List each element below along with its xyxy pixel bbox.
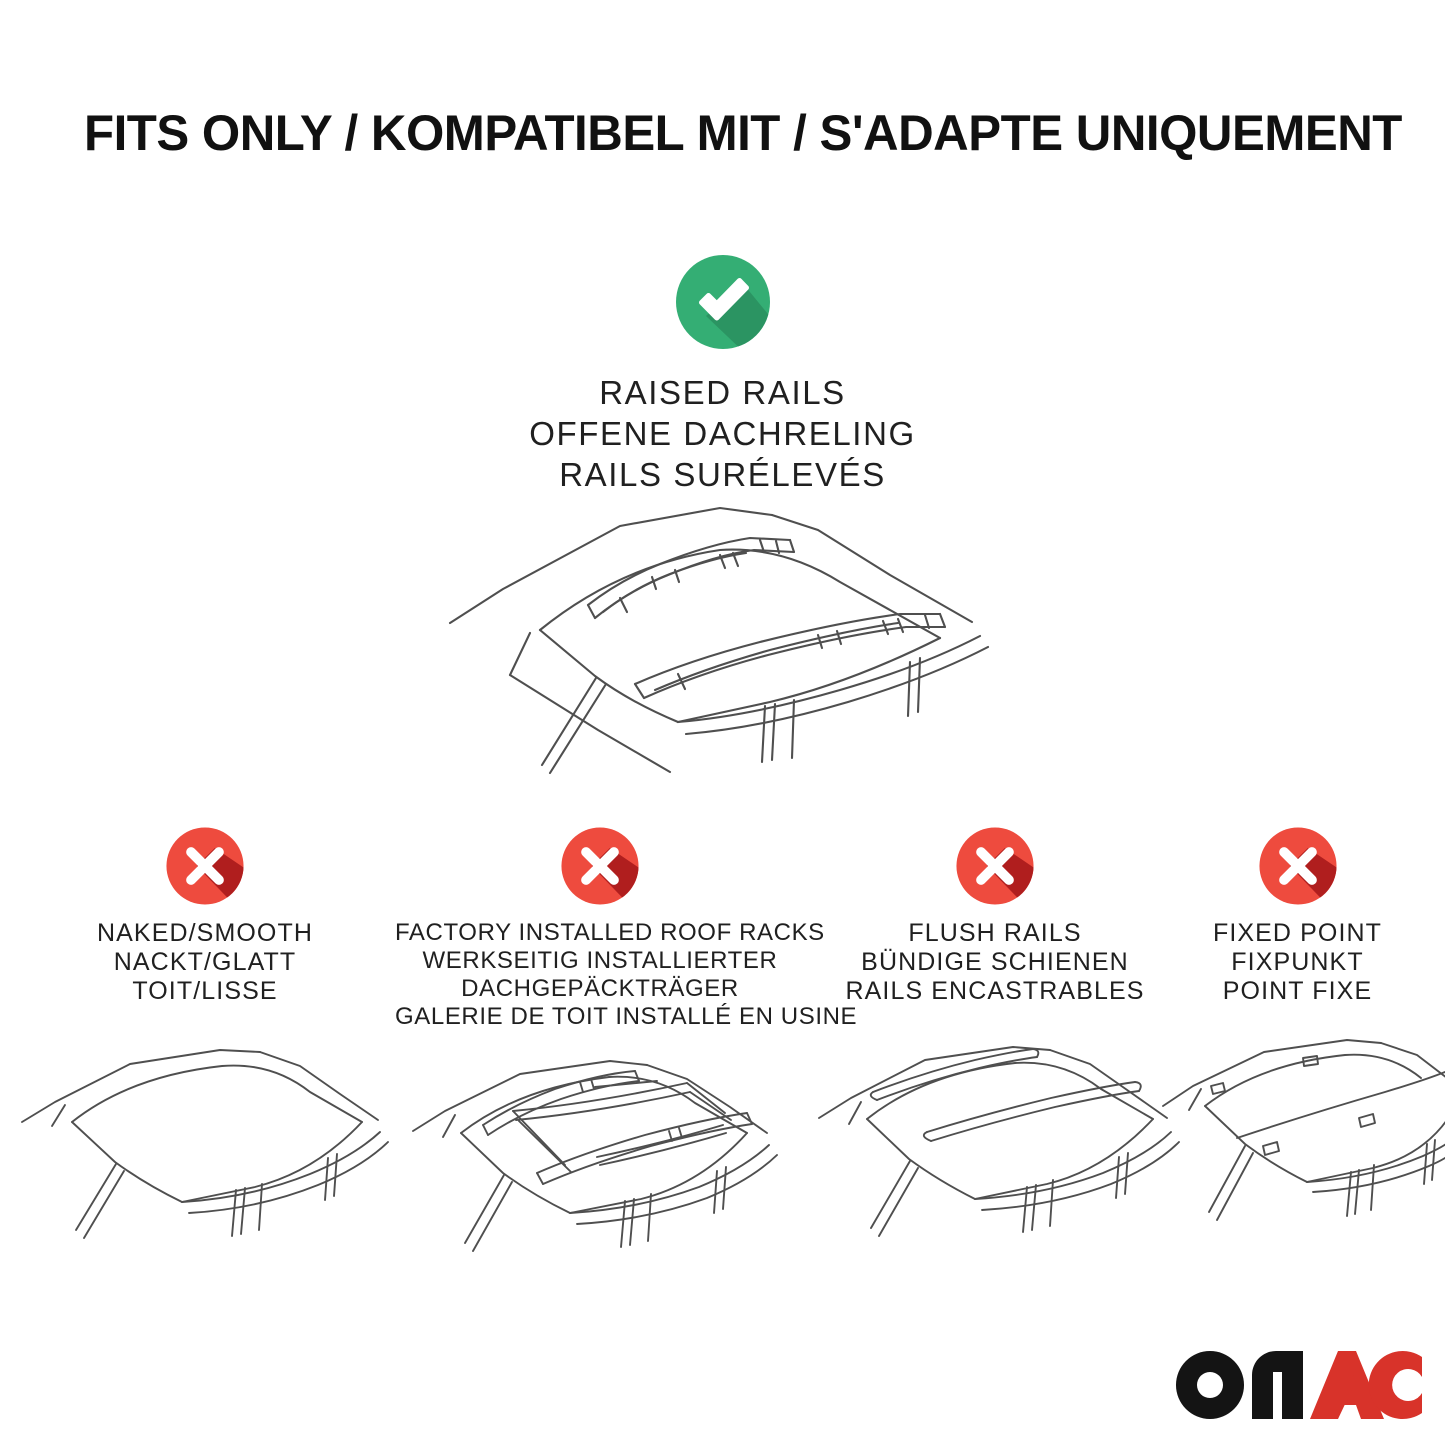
car-roof-raised-rails-illustration [420,490,1030,790]
omac-logo [1170,1345,1425,1425]
incompatible-caption-flush-rails: FLUSH RAILS BÜNDIGE SCHIENEN RAILS ENCAS… [805,919,1185,1006]
compatible-section: RAISED RAILS OFFENE DACHRELING RAILS SUR… [0,252,1445,495]
car-roof-factory-roof-racks-illustration [395,1041,805,1271]
label-de: FIXPUNKT [1165,948,1430,977]
logo-letter-m [1252,1351,1303,1419]
label-de-2: DACHGEPÄCKTRÄGER [395,975,805,1003]
label-en: NAKED/SMOOTH [10,919,400,948]
incompatible-item-fixed-point: FIXED POINT FIXPUNKT POINT FIXE [1165,825,1430,1252]
cross-circle-icon [1257,825,1339,907]
label-fr: GALERIE DE TOIT INSTALLÉ EN USINE [395,1003,805,1031]
cross-circle-icon [164,825,246,907]
incompatible-item-naked-smooth: NAKED/SMOOTH NACKT/GLATT TOIT/LISSE [10,825,400,1252]
car-roof-fixed-point-illustration [1165,1022,1430,1252]
label-fr: TOIT/LISSE [10,977,400,1006]
compatible-caption: RAISED RAILS OFFENE DACHRELING RAILS SUR… [0,372,1445,495]
car-roof-flush-rails-illustration [805,1022,1185,1252]
label-de: BÜNDIGE SCHIENEN [805,948,1185,977]
label-fr: RAILS ENCASTRABLES [805,977,1185,1006]
logo-letter-o [1176,1351,1244,1419]
incompatible-caption-fixed-point: FIXED POINT FIXPUNKT POINT FIXE [1165,919,1430,1006]
label-de-1: WERKSEITIG INSTALLIERTER [395,947,805,975]
incompatible-caption-factory-roof-racks: FACTORY INSTALLED ROOF RACKS WERKSEITIG … [395,919,805,1031]
incompatible-item-flush-rails: FLUSH RAILS BÜNDIGE SCHIENEN RAILS ENCAS… [805,825,1185,1252]
incompatible-caption-naked-smooth: NAKED/SMOOTH NACKT/GLATT TOIT/LISSE [10,919,400,1006]
compatible-label-de: OFFENE DACHRELING [0,413,1445,454]
label-de: NACKT/GLATT [10,948,400,977]
incompatible-item-factory-roof-racks: FACTORY INSTALLED ROOF RACKS WERKSEITIG … [395,825,805,1271]
compatible-label-fr: RAILS SURÉLEVÉS [0,454,1445,495]
label-en: FIXED POINT [1165,919,1430,948]
cross-circle-icon [559,825,641,907]
incompatible-section: NAKED/SMOOTH NACKT/GLATT TOIT/LISSE [0,825,1445,1255]
label-fr: POINT FIXE [1165,977,1430,1006]
compatible-label-en: RAISED RAILS [0,372,1445,413]
cross-circle-icon [954,825,1036,907]
check-circle-icon [673,252,773,352]
label-en: FLUSH RAILS [805,919,1185,948]
label-en: FACTORY INSTALLED ROOF RACKS [395,919,805,947]
car-roof-naked-smooth-illustration [10,1022,400,1252]
page-title: FITS ONLY / KOMPATIBEL MIT / S'ADAPTE UN… [84,104,1355,162]
